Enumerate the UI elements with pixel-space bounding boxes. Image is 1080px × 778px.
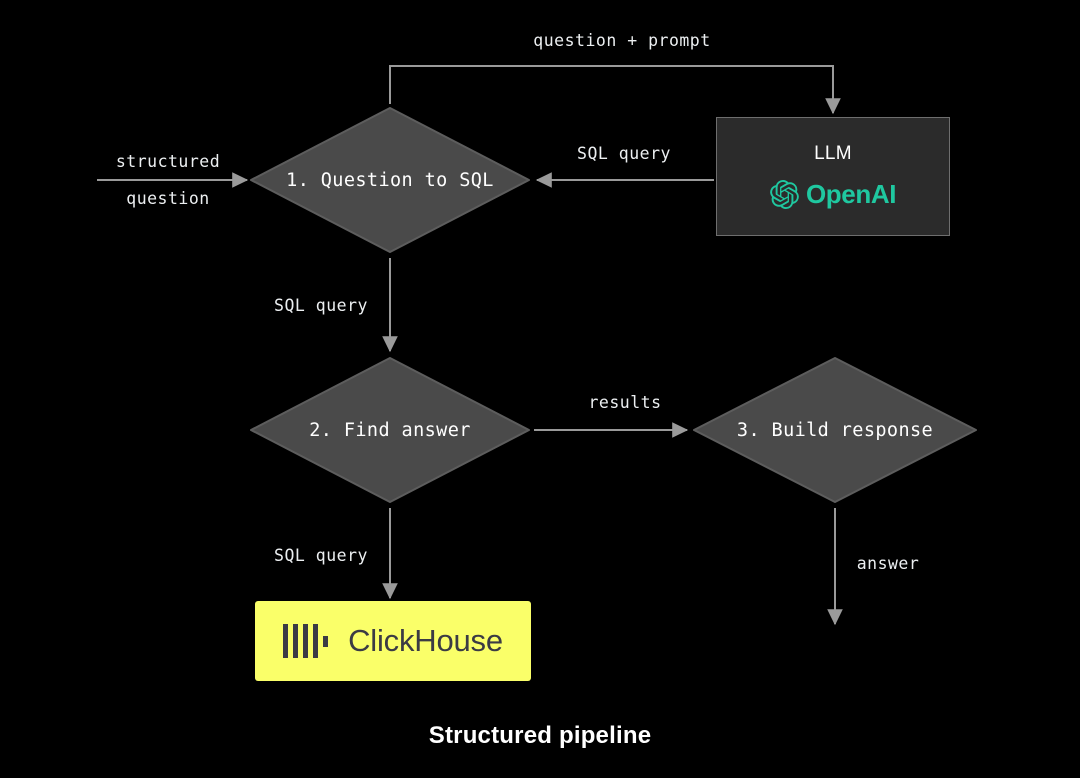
clickhouse-logo-icon (283, 624, 328, 658)
logo-bar (283, 624, 288, 658)
node-step2-label: 2. Find answer (309, 420, 471, 441)
logo-bar-short (323, 636, 328, 647)
diagram-canvas: question + prompt SQL query structured q… (0, 0, 1080, 778)
logo-bar (303, 624, 308, 658)
node-llm[interactable]: LLM OpenAI (716, 117, 950, 236)
node-step3-label: 3. Build response (737, 420, 933, 441)
edge-label-question: question (126, 189, 209, 209)
logo-bar (293, 624, 298, 658)
edge-label-sql-query-to-step2: SQL query (274, 296, 368, 316)
openai-lockup: OpenAI (770, 179, 896, 210)
node-step1-question-to-sql[interactable]: 1. Question to SQL (247, 104, 533, 256)
edge-label-structured: structured (116, 152, 220, 172)
logo-bar (313, 624, 318, 658)
edge-label-sql-query-to-clickhouse: SQL query (274, 546, 368, 566)
openai-wordmark: OpenAI (806, 179, 896, 210)
openai-logo-icon (770, 180, 799, 209)
edge-label-question-prompt: question + prompt (533, 31, 710, 51)
diagram-caption: Structured pipeline (0, 722, 1080, 750)
node-clickhouse[interactable]: ClickHouse (255, 601, 531, 681)
clickhouse-wordmark: ClickHouse (348, 623, 503, 659)
edge-label-results: results (588, 393, 661, 413)
node-step1-label: 1. Question to SQL (286, 170, 494, 191)
node-step3-build-response[interactable]: 3. Build response (690, 354, 980, 506)
edge-label-sql-query-from-llm: SQL query (577, 144, 671, 164)
node-step2-find-answer[interactable]: 2. Find answer (247, 354, 533, 506)
node-llm-title: LLM (814, 143, 852, 165)
edge-label-answer: answer (857, 554, 920, 574)
